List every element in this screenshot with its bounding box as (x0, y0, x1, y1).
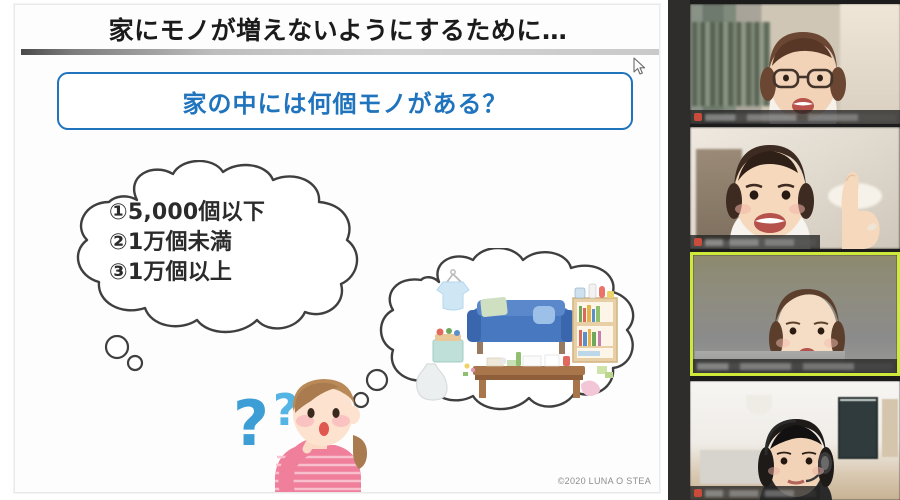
participant-tile-2[interactable] (690, 127, 900, 249)
room-cloud-outline-icon (377, 248, 642, 423)
participant-name-3 (697, 363, 893, 370)
mouse-pointer-icon (633, 57, 647, 77)
participant-video-3 (693, 255, 897, 373)
participant-name-2 (705, 239, 816, 246)
participant-name-bar-3 (693, 359, 897, 373)
option-item-2: ②1万個未満 (109, 228, 359, 258)
participant-name-1 (705, 114, 896, 121)
video-gallery (690, 0, 900, 500)
participant-video-1 (690, 4, 900, 124)
slide-title: 家にモノが増えないようにするために… (15, 11, 660, 47)
woman-figure-icon (235, 373, 385, 493)
slide-canvas: 家にモノが増えないようにするために… 家の中には何個モノがある？ ①5,000個… (14, 4, 660, 493)
option-item-1: ①5,000個以下 (109, 198, 359, 228)
mic-muted-icon-1 (694, 113, 702, 121)
room-thought-cloud (377, 248, 642, 423)
options-thought-cloud: ①5,000個以下 ②1万個未満 ③1万個以上 (67, 160, 377, 345)
participant-tile-1[interactable] (690, 4, 900, 124)
copyright-notice: ©2020 LUNA O STEA (558, 476, 651, 486)
options-cloud-tail (95, 335, 155, 375)
participant-video-2 (690, 127, 900, 249)
title-divider-rule (21, 49, 660, 55)
participant-name-bar-2 (690, 235, 820, 249)
participant-name-bar-1 (690, 110, 900, 124)
bookshelf-illustration (573, 284, 617, 362)
option-item-3: ③1万個以上 (109, 258, 359, 288)
options-list: ①5,000個以下 ②1万個未満 ③1万個以上 (109, 198, 359, 288)
participant-tile-3-active-speaker[interactable] (690, 252, 900, 376)
meeting-screen: 家にモノが増えないようにするために… 家の中には何個モノがある？ ①5,000個… (0, 0, 900, 500)
participant-name-bar-4 (690, 486, 820, 500)
mic-muted-icon-2 (694, 238, 702, 246)
question-box-text: 家の中には何個モノがある？ (183, 84, 508, 119)
participant-tile-4[interactable] (690, 381, 900, 500)
question-box: 家の中には何個モノがある？ (57, 72, 633, 130)
gallery-divider (668, 0, 690, 500)
thinking-woman-illustration (235, 373, 385, 493)
screen-share-region: 家にモノが増えないようにするために… 家の中には何個モノがある？ ①5,000個… (0, 0, 668, 500)
participant-video-4 (690, 381, 900, 500)
pointing-hand-illustration-2 (816, 167, 888, 249)
participant-name-4 (705, 490, 816, 497)
mic-muted-icon-4 (694, 489, 702, 497)
